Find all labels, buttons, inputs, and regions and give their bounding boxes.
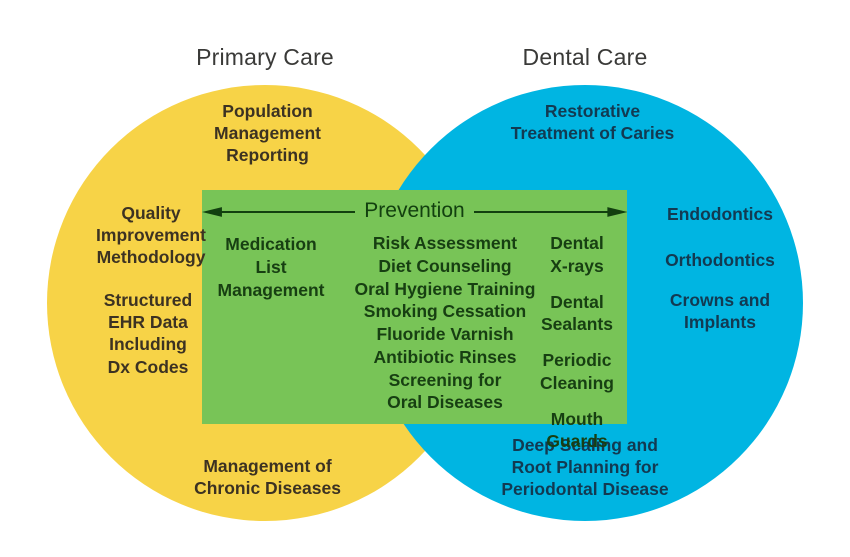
title-dental-care: Dental Care [465, 44, 705, 71]
text-line: Smoking Cessation [345, 300, 545, 323]
venn-diagram: Primary Care Dental Care Prevention Popu… [0, 0, 850, 557]
text-line: Fluoride Varnish [345, 323, 545, 346]
text-line: Mouth [525, 408, 629, 431]
label-management-of-chronic-diseases: Management of Chronic Diseases [165, 455, 370, 499]
label-population-management-reporting: Population Management Reporting [165, 100, 370, 167]
text-line: Population [165, 100, 370, 122]
text-line: Medication [205, 233, 337, 256]
label-orthodontics: Orthodontics [625, 249, 815, 271]
text-line: Risk Assessment [345, 232, 545, 255]
label-structured-ehr-data: Structured EHR Data Including Dx Codes [58, 289, 238, 378]
text-line: Oral Hygiene Training [345, 278, 545, 301]
text-line: Management of [165, 455, 370, 477]
text-line: Including [58, 333, 238, 355]
label-crowns-and-implants: Crowns and Implants [625, 289, 815, 333]
text-line: Cleaning [525, 372, 629, 395]
label-dental-xrays: Dental X-rays [525, 232, 629, 278]
text-line: EHR Data [58, 311, 238, 333]
text-line: Chronic Diseases [165, 477, 370, 499]
title-primary-care: Primary Care [145, 44, 385, 71]
arrow-right [474, 205, 627, 219]
text-line: Quality [56, 202, 246, 224]
text-line: Sealants [525, 313, 629, 336]
prevention-header-row: Prevention [202, 196, 627, 228]
text-line: List [205, 256, 337, 279]
text-line: Oral Diseases [345, 391, 545, 414]
label-restorative-treatment-of-caries: Restorative Treatment of Caries [485, 100, 700, 144]
label-shared-dental-procedures: Dental X-rays Dental Sealants Periodic C… [525, 232, 629, 453]
text-line: Management [165, 122, 370, 144]
label-medication-list-management: Medication List Management [205, 233, 337, 301]
text-line: Dx Codes [58, 356, 238, 378]
text-line: Orthodontics [625, 249, 815, 271]
label-periodic-cleaning: Periodic Cleaning [525, 349, 629, 395]
text-line: Root Planning for [470, 456, 700, 478]
text-line: Endodontics [625, 203, 815, 225]
text-line: Periodontal Disease [470, 478, 700, 500]
text-line: Screening for [345, 369, 545, 392]
label-endodontics: Endodontics [625, 203, 815, 225]
text-line: Restorative [485, 100, 700, 122]
prevention-label: Prevention [355, 199, 473, 223]
label-dental-sealants: Dental Sealants [525, 291, 629, 337]
text-line: Crowns and [625, 289, 815, 311]
text-line: Dental [525, 291, 629, 314]
text-line: Dental [525, 232, 629, 255]
label-mouth-guards: Mouth Guards [525, 408, 629, 454]
text-line: Antibiotic Rinses [345, 346, 545, 369]
text-line: Implants [625, 311, 815, 333]
text-line: Management [205, 279, 337, 302]
text-line: Reporting [165, 144, 370, 166]
label-shared-prevention-services: Risk Assessment Diet Counseling Oral Hyg… [345, 232, 545, 414]
text-line: Periodic [525, 349, 629, 372]
text-line: Diet Counseling [345, 255, 545, 278]
text-line: Treatment of Caries [485, 122, 700, 144]
text-line: Guards [525, 430, 629, 453]
text-line: X-rays [525, 255, 629, 278]
